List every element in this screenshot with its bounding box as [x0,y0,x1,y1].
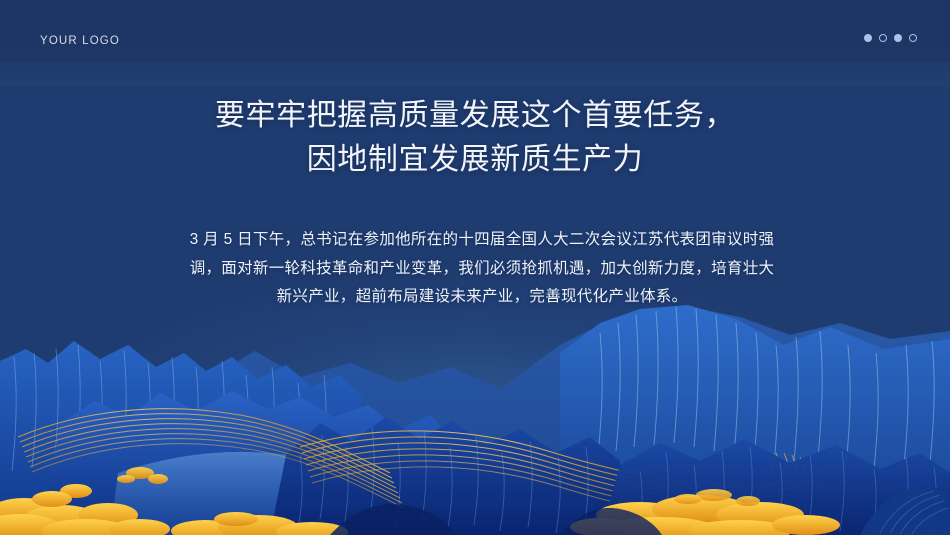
pagination-dot-2[interactable] [879,34,887,42]
slide-body-text: 3 月 5 日下午，总书记在参加他所在的十四届全国人大二次会议江苏代表团审议时强… [146,226,818,312]
logo-text: YOUR LOGO [40,35,120,47]
title-line-2: 因地制宜发展新质生产力 [0,138,950,182]
pagination-dot-1[interactable] [864,34,872,42]
header-band [0,0,950,62]
title-line-1: 要牢牢把握高质量发展这个首要任务， [0,94,950,138]
header-band-secondary [0,62,950,86]
body-line-1: 3 月 5 日下午，总书记在参加他所在的十四届全国人大二次会议江苏代表团审议时强 [146,226,818,255]
mountain-artwork [0,305,950,535]
pagination-dot-4[interactable] [909,34,917,42]
slide-pagination[interactable] [864,34,917,42]
pagination-dot-3[interactable] [894,34,902,42]
slide-title: 要牢牢把握高质量发展这个首要任务， 因地制宜发展新质生产力 [0,94,950,182]
presentation-slide: YOUR LOGO 要牢牢把握高质量发展这个首要任务， 因地制宜发展新质生产力 … [0,0,950,535]
body-line-2: 调，面对新一轮科技革命和产业变革，我们必须抢抓机遇，加大创新力度，培育壮大 [146,255,818,284]
mountain-artwork-svg [0,305,950,535]
